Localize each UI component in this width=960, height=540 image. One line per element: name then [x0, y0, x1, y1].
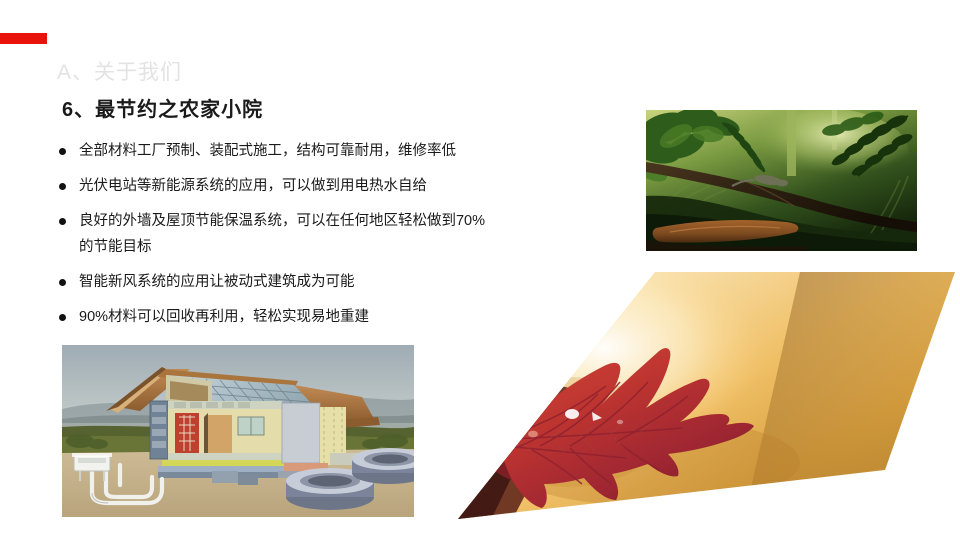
list-item: 光伏电站等新能源系统的应用，可以做到用电热水自给: [57, 173, 557, 199]
bullet-dot-icon: [59, 183, 66, 190]
list-item-text: 光伏电站等新能源系统的应用，可以做到用电热水自给: [79, 178, 427, 194]
list-item: 全部材料工厂预制、装配式施工，结构可靠耐用，维修率低: [57, 138, 557, 164]
list-item-text-second-line: 的节能目标: [79, 234, 557, 260]
list-item: 良好的外墙及屋顶节能保温系统，可以在任何地区轻松做到70% 的节能目标: [57, 208, 557, 260]
list-item-text: 良好的外墙及屋顶节能保温系统，可以在任何地区轻松做到70%: [79, 213, 485, 229]
bullet-dot-icon: [59, 314, 66, 321]
red-leaf-photo: [420, 262, 960, 540]
bullet-dot-icon: [59, 218, 66, 225]
list-item-text: 全部材料工厂预制、装配式施工，结构可靠耐用，维修率低: [79, 143, 456, 159]
list-item-text: 90%材料可以回收再利用，轻松实现易地重建: [79, 309, 369, 325]
rainforest-photo: [646, 110, 917, 251]
list-item-text: 智能新风系统的应用让被动式建筑成为可能: [79, 274, 355, 290]
bullet-dot-icon: [59, 279, 66, 286]
eco-house-render: [62, 345, 414, 517]
page-title: 6、最节约之农家小院: [62, 93, 263, 122]
section-header: A、关于我们: [57, 56, 182, 86]
accent-bar: [0, 33, 47, 44]
bullet-dot-icon: [59, 148, 66, 155]
